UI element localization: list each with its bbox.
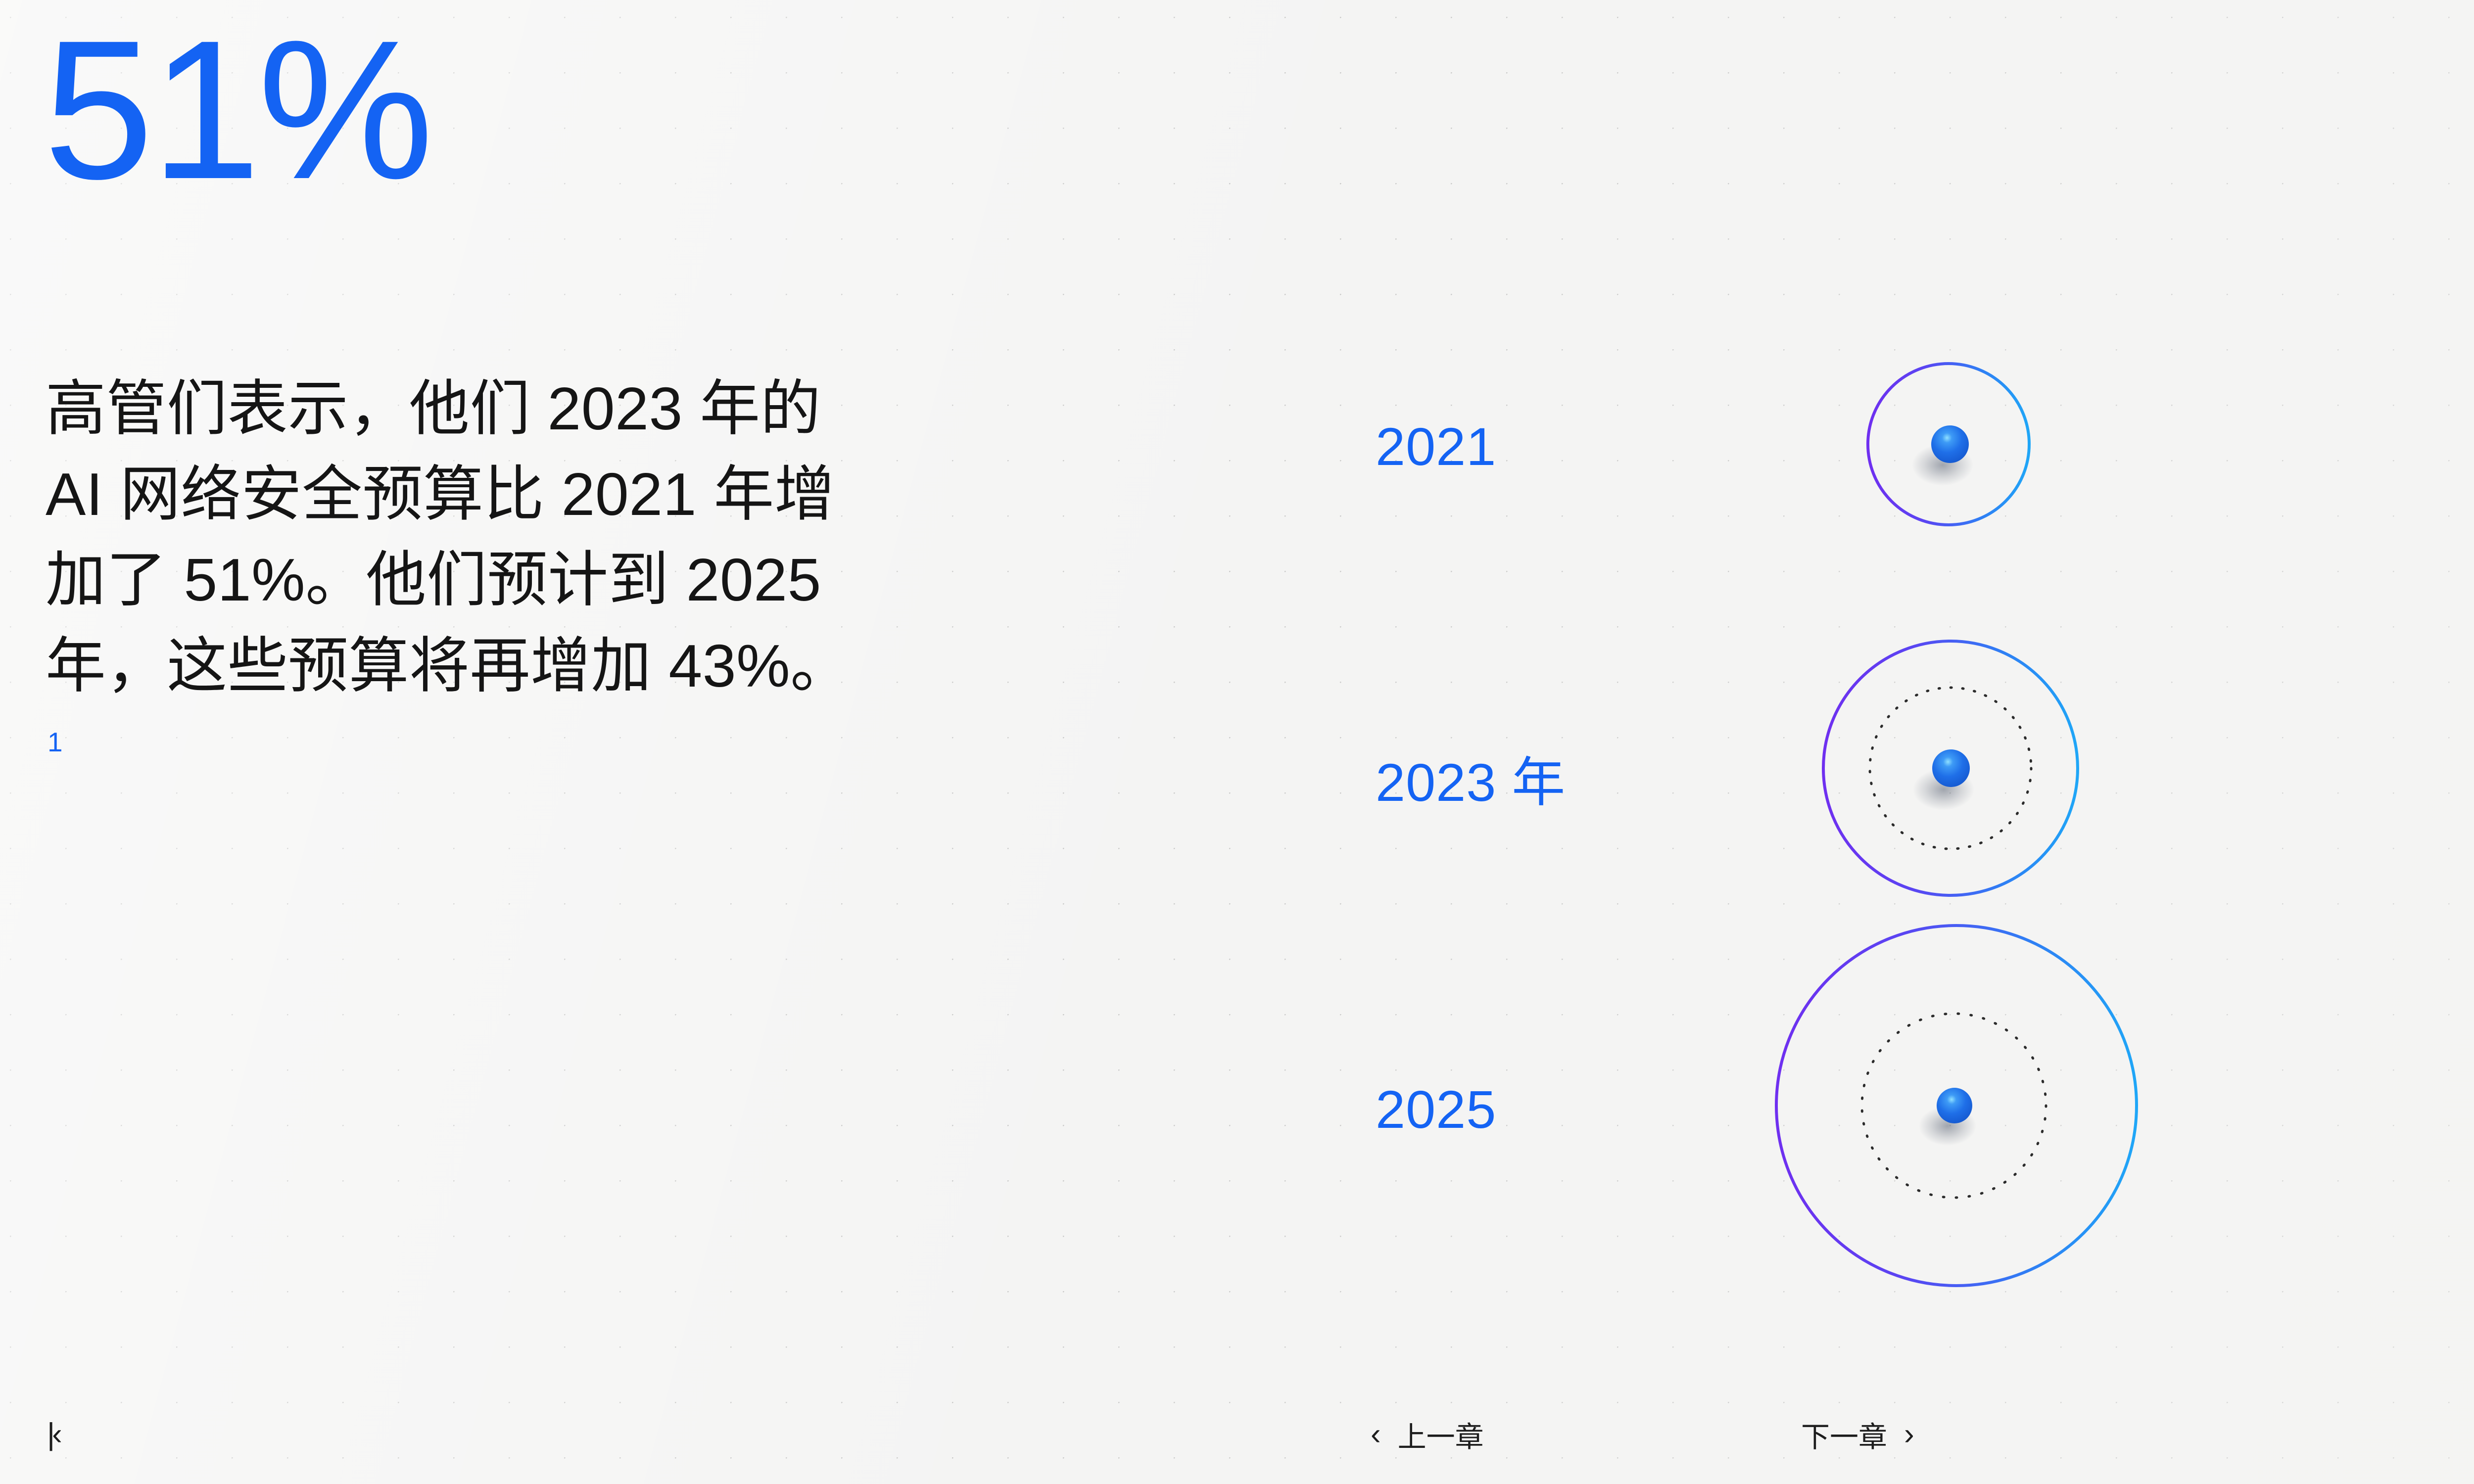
year-label-2021: 2021 [1376, 416, 1496, 477]
body-paragraph: 高管们表示，他们 2023 年的 AI 网络安全预算比 2021 年增加了 51… [46, 366, 857, 794]
bubble-group-2025[interactable] [1504, 926, 2137, 1286]
slide-page: 51% 高管们表示，他们 2023 年的 AI 网络安全预算比 2021 年增加… [0, 0, 2474, 1484]
node-sphere-2025 [1937, 1088, 1972, 1123]
year-label-2025: 2025 [1376, 1078, 1496, 1140]
chevron-right-icon: › [1904, 1419, 1914, 1450]
previous-chapter-label: 上一章 [1398, 1414, 1484, 1455]
headline-statistic: 51% [44, 11, 431, 209]
node-sphere-2021 [1931, 425, 1969, 463]
footer-navigation-bar: |‹ ‹ 上一章 下一章 › 8 [0, 1385, 2474, 1484]
next-chapter-button[interactable]: 下一章 › [1801, 1414, 1914, 1455]
previous-chapter-button[interactable]: ‹ 上一章 [1371, 1414, 1484, 1455]
budget-bubble-diagram: 2021 2023 年 2025 [1286, 317, 2326, 1158]
bubble-group-2021[interactable] [1504, 364, 2029, 525]
node-sphere-2023 [1932, 749, 1970, 787]
footnote-marker[interactable]: 1 [48, 727, 63, 757]
chevron-left-icon: ‹ [1371, 1419, 1381, 1450]
first-page-button[interactable]: |‹ [47, 1419, 76, 1450]
body-paragraph-text: 高管们表示，他们 2023 年的 AI 网络安全预算比 2021 年增加了 51… [46, 375, 851, 699]
year-label-2023: 2023 年 [1376, 740, 1566, 817]
next-chapter-label: 下一章 [1801, 1414, 1887, 1455]
first-page-icon: |‹ [47, 1419, 59, 1450]
bubble-group-2023[interactable] [1504, 641, 2078, 895]
